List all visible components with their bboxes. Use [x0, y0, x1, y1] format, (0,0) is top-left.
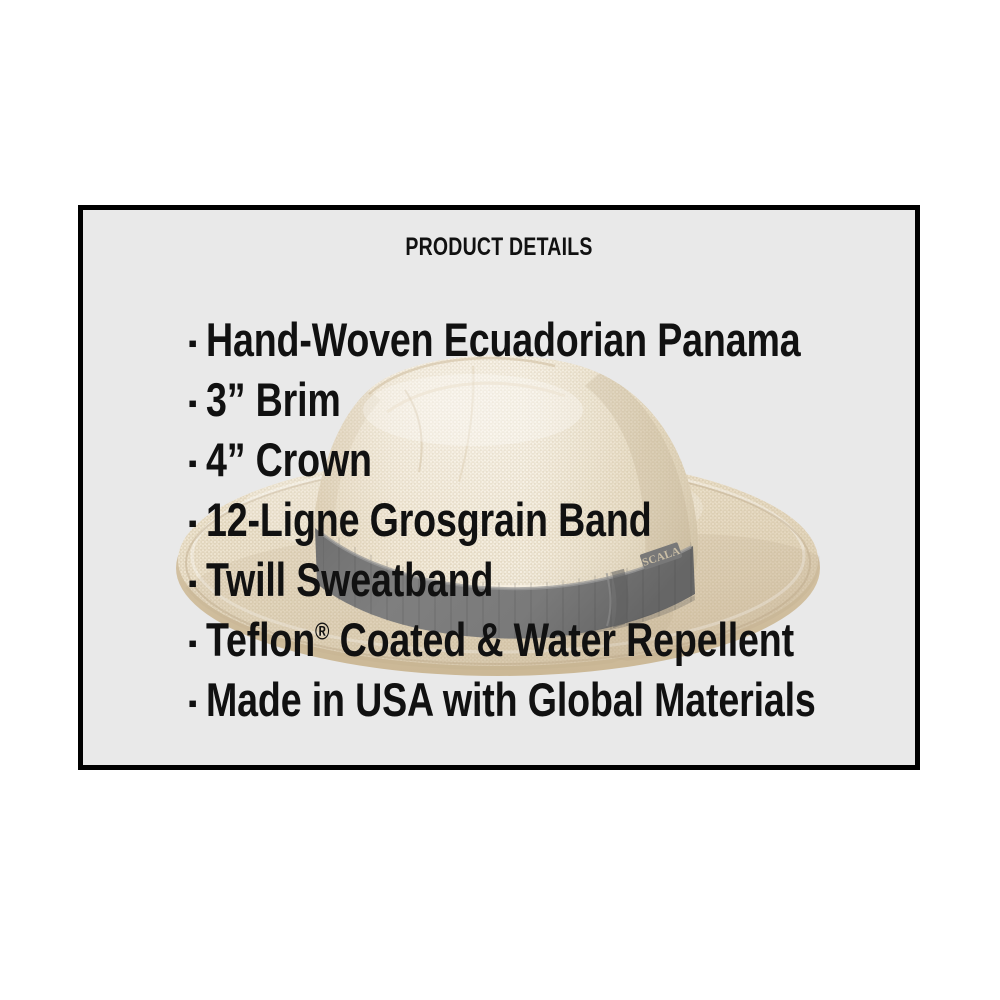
detail-text: Twill Sweatband [206, 550, 493, 610]
detail-text: Teflon® Coated & Water Repellent [206, 610, 794, 670]
list-item: ▪ 4” Crown [188, 430, 908, 490]
list-item: ▪ 3” Brim [188, 370, 908, 430]
bullet-icon: ▪ [188, 673, 206, 733]
bullet-icon: ▪ [188, 313, 206, 373]
list-item: ▪ 12-Ligne Grosgrain Band [188, 490, 908, 550]
detail-text-after: Coated & Water Repellent [329, 613, 794, 666]
bullet-icon: ▪ [188, 613, 206, 673]
detail-text: Hand-Woven Ecuadorian Panama [206, 310, 800, 370]
list-item: ▪ Teflon® Coated & Water Repellent [188, 610, 908, 670]
detail-text: Made in USA with Global Materials [206, 670, 816, 730]
detail-text: 3” Brim [206, 370, 341, 430]
detail-text-before: Teflon [206, 613, 315, 666]
detail-text: 12-Ligne Grosgrain Band [206, 490, 652, 550]
bullet-icon: ▪ [188, 553, 206, 613]
list-item: ▪ Twill Sweatband [188, 550, 908, 610]
product-details-list: ▪ Hand-Woven Ecuadorian Panama ▪ 3” Brim… [188, 310, 908, 730]
list-item: ▪ Hand-Woven Ecuadorian Panama [188, 310, 908, 370]
page-title: PRODUCT DETAILS [175, 233, 824, 262]
bullet-icon: ▪ [188, 373, 206, 433]
list-item: ▪ Made in USA with Global Materials [188, 670, 908, 730]
bullet-icon: ▪ [188, 433, 206, 493]
detail-text: 4” Crown [206, 430, 372, 490]
page-canvas: SCALA PRODUCT DETAILS ▪ Hand-Woven Ecuad… [0, 0, 1000, 1000]
registered-trademark-icon: ® [315, 618, 329, 645]
product-details-panel: SCALA PRODUCT DETAILS ▪ Hand-Woven Ecuad… [78, 205, 920, 770]
bullet-icon: ▪ [188, 493, 206, 553]
